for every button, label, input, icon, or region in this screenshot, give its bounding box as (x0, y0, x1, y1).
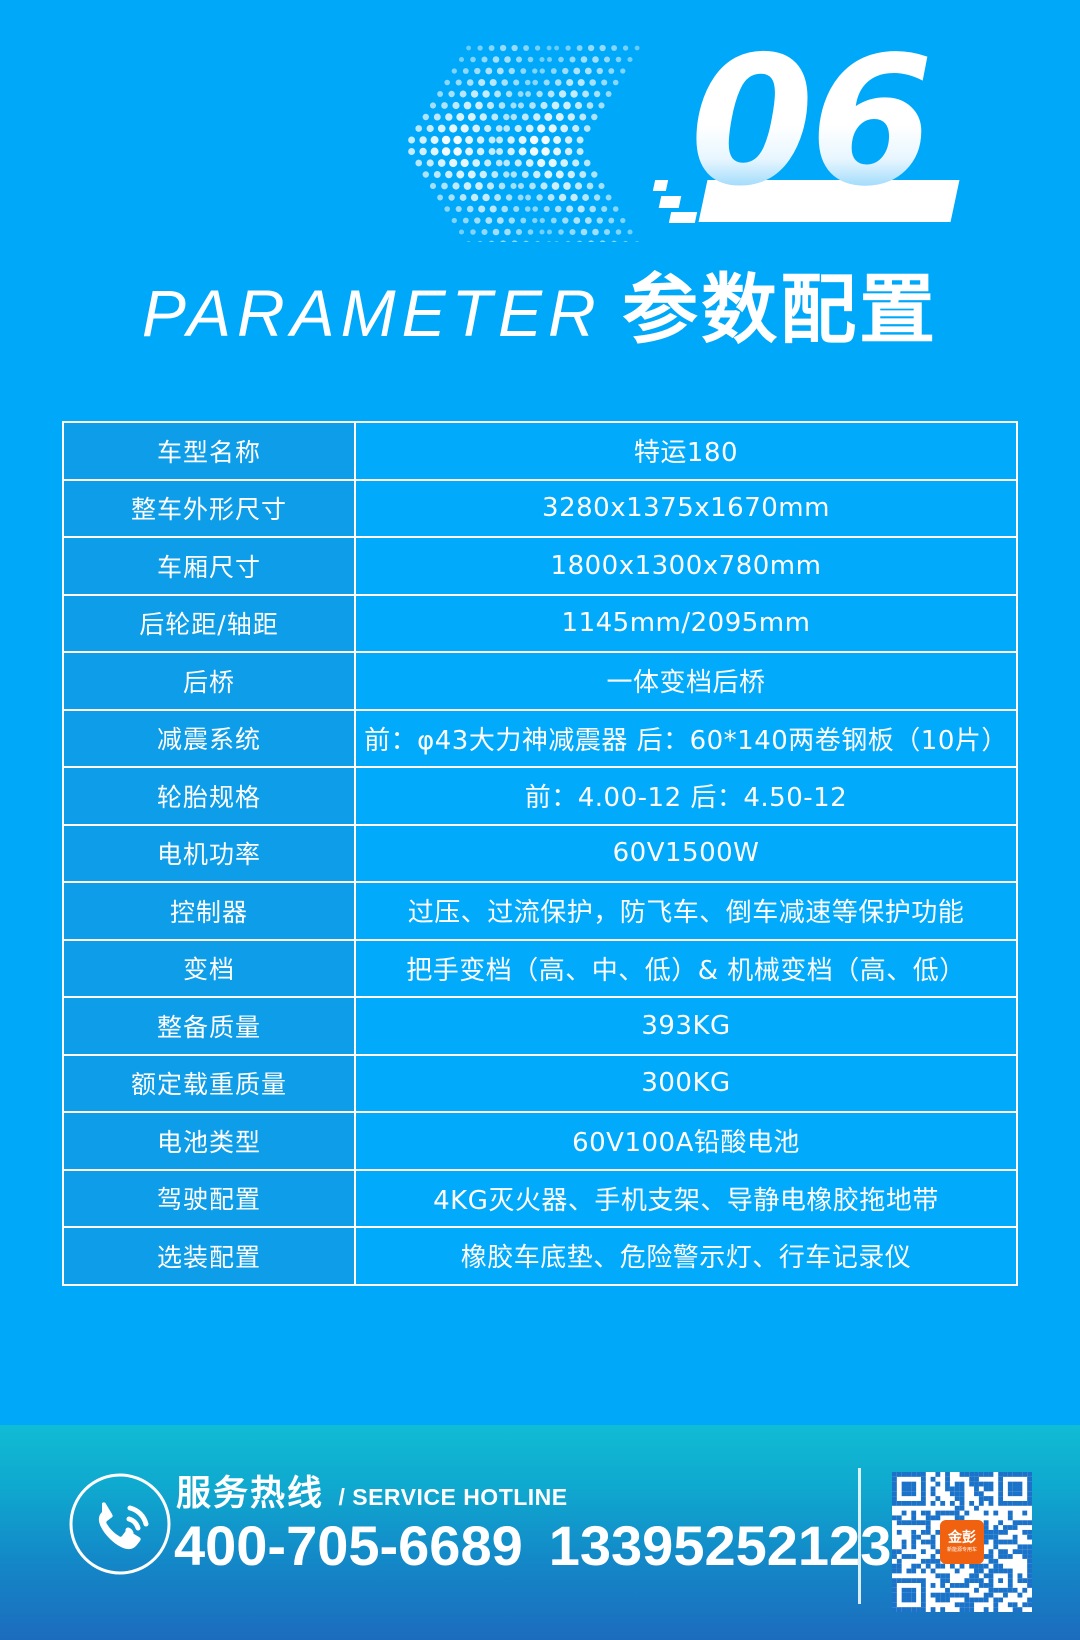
table-row: 整车外形尺寸3280x1375x1670mm (63, 480, 1017, 538)
phone-numbers[interactable]: 400-705-668913395252123 (174, 1513, 891, 1578)
table-row: 车厢尺寸1800x1300x780mm (63, 537, 1017, 595)
table-row: 轮胎规格前：4.00-12 后：4.50-12 (63, 767, 1017, 825)
spec-label-cell: 电池类型 (63, 1112, 355, 1170)
spec-value-cell: 橡胶车底垫、危险警示灯、行车记录仪 (355, 1227, 1017, 1285)
spec-value-cell: 前：φ43大力神减震器 后：60*140两卷钢板（10片） (355, 710, 1017, 768)
spec-value-cell: 3280x1375x1670mm (355, 480, 1017, 538)
spec-table-body: 车型名称特运180整车外形尺寸3280x1375x1670mm车厢尺寸1800x… (63, 422, 1017, 1285)
spec-label-cell: 控制器 (63, 882, 355, 940)
spec-label-cell: 减震系统 (63, 710, 355, 768)
spec-value-cell: 60V1500W (355, 825, 1017, 883)
page-title-en: PARAMETER (142, 275, 602, 351)
hotline-label: 服务热线 / SERVICE HOTLINE (176, 1465, 568, 1516)
qr-code[interactable]: 金彭 新能源专用车 (892, 1472, 1032, 1612)
table-row: 后轮距/轴距1145mm/2095mm (63, 595, 1017, 653)
spec-label-cell: 整备质量 (63, 997, 355, 1055)
table-row: 选装配置橡胶车底垫、危险警示灯、行车记录仪 (63, 1227, 1017, 1285)
table-row: 电池类型60V100A铅酸电池 (63, 1112, 1017, 1170)
table-row: 变档把手变档（高、中、低）& 机械变档（高、低） (63, 940, 1017, 998)
spec-value-cell: 把手变档（高、中、低）& 机械变档（高、低） (355, 940, 1017, 998)
qr-brand-logo: 金彭 新能源专用车 (940, 1520, 984, 1564)
table-row: 减震系统前：φ43大力神减震器 后：60*140两卷钢板（10片） (63, 710, 1017, 768)
table-row: 控制器过压、过流保护，防飞车、倒车减速等保护功能 (63, 882, 1017, 940)
spec-value-cell: 1800x1300x780mm (355, 537, 1017, 595)
spec-value-cell: 4KG灭火器、手机支架、导静电橡胶拖地带 (355, 1170, 1017, 1228)
spec-label-cell: 轮胎规格 (63, 767, 355, 825)
qr-brand-name: 金彭 (948, 1531, 976, 1545)
table-row: 后桥一体变档后桥 (63, 652, 1017, 710)
spec-label-cell: 车型名称 (63, 422, 355, 480)
table-row: 额定载重质量300KG (63, 1055, 1017, 1113)
spec-label-cell: 电机功率 (63, 825, 355, 883)
hotline-label-cn: 服务热线 (176, 1465, 324, 1516)
spec-value-cell: 过压、过流保护，防飞车、倒车减速等保护功能 (355, 882, 1017, 940)
spec-value-cell: 前：4.00-12 后：4.50-12 (355, 767, 1017, 825)
page-header: 06 PARAMETER 参数配置 (0, 0, 1080, 380)
spec-label-cell: 选装配置 (63, 1227, 355, 1285)
spec-label-cell: 后桥 (63, 652, 355, 710)
spec-label-cell: 车厢尺寸 (63, 537, 355, 595)
spec-table: 车型名称特运180整车外形尺寸3280x1375x1670mm车厢尺寸1800x… (62, 421, 1018, 1286)
qr-brand-tagline: 新能源专用车 (947, 1548, 977, 1553)
speed-dash-1 (653, 180, 668, 191)
spec-label-cell: 额定载重质量 (63, 1055, 355, 1113)
footer-divider (858, 1468, 861, 1604)
spec-value-cell: 一体变档后桥 (355, 652, 1017, 710)
section-number: 06 (690, 38, 930, 206)
spec-value-cell: 60V100A铅酸电池 (355, 1112, 1017, 1170)
table-row: 电机功率60V1500W (63, 825, 1017, 883)
spec-value-cell: 393KG (355, 997, 1017, 1055)
table-row: 驾驶配置4KG灭火器、手机支架、导静电橡胶拖地带 (63, 1170, 1017, 1228)
spec-value-cell: 300KG (355, 1055, 1017, 1113)
page-title: PARAMETER 参数配置 (0, 248, 1080, 358)
spec-value-cell: 特运180 (355, 422, 1017, 480)
spec-label-cell: 后轮距/轴距 (63, 595, 355, 653)
phone-secondary[interactable]: 13395252123 (549, 1514, 892, 1577)
spec-value-cell: 1145mm/2095mm (355, 595, 1017, 653)
phone-icon (68, 1472, 172, 1576)
section-number-block: 06 (690, 38, 950, 233)
spec-label-cell: 驾驶配置 (63, 1170, 355, 1228)
hotline-label-en: / SERVICE HOTLINE (338, 1484, 567, 1511)
speed-dash-2 (659, 196, 682, 208)
page-title-cn: 参数配置 (622, 248, 938, 358)
table-row: 车型名称特运180 (63, 422, 1017, 480)
spec-label-cell: 变档 (63, 940, 355, 998)
table-row: 整备质量393KG (63, 997, 1017, 1055)
spec-label-cell: 整车外形尺寸 (63, 480, 355, 538)
phone-primary[interactable]: 400-705-6689 (174, 1514, 523, 1577)
